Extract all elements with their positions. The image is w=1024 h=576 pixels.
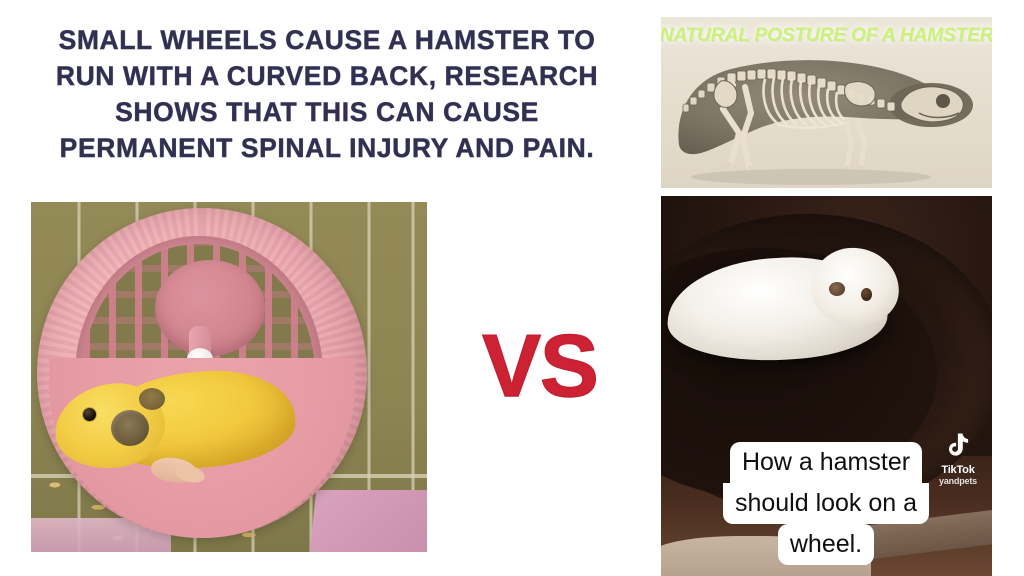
cage-pink-shelf [310, 490, 427, 552]
versus-label: VS [455, 322, 625, 410]
white-hamster-eye [861, 288, 872, 301]
hamster-ear-near [111, 410, 149, 446]
tiktok-label: TikTok [926, 464, 990, 476]
headline-line-4: PERMANENT SPINAL INJURY AND PAIN. [14, 130, 640, 166]
photo-natural-posture: NATURAL POSTURE OF A HAMSTER [661, 17, 992, 188]
caption-line-1: How a hamster [730, 442, 922, 483]
hamster-ear-far [139, 388, 165, 410]
yellow-hamster [55, 362, 303, 488]
headline-text: SMALL WHEELS CAUSE A HAMSTER TO RUN WITH… [14, 22, 640, 166]
caption-line-3: wheel. [778, 524, 874, 565]
caption-line-2: should look on a [723, 483, 929, 524]
headline-line-1: SMALL WHEELS CAUSE A HAMSTER TO [14, 22, 640, 58]
hamster-eye [83, 408, 96, 421]
headline-line-3: SHOWS THAT THIS CAN CAUSE [14, 94, 640, 130]
tiktok-watermark: TikTok yandpets [926, 432, 990, 487]
pink-wheel [37, 208, 367, 538]
skeleton-panel-title: NATURAL POSTURE OF A HAMSTER [661, 25, 992, 47]
photo-correct-wheel: How a hamster should look on a wheel. Ti… [661, 196, 992, 576]
infographic-canvas: SMALL WHEELS CAUSE A HAMSTER TO RUN WITH… [0, 0, 1024, 576]
photo-hamster-small-wheel [31, 202, 427, 552]
tiktok-note-icon [945, 432, 971, 462]
headline-line-2: RUN WITH A CURVED BACK, RESEARCH [14, 58, 640, 94]
white-hamster-ear [829, 282, 845, 296]
tiktok-username: yandpets [926, 476, 990, 487]
video-caption: How a hamster should look on a wheel. [699, 442, 953, 565]
